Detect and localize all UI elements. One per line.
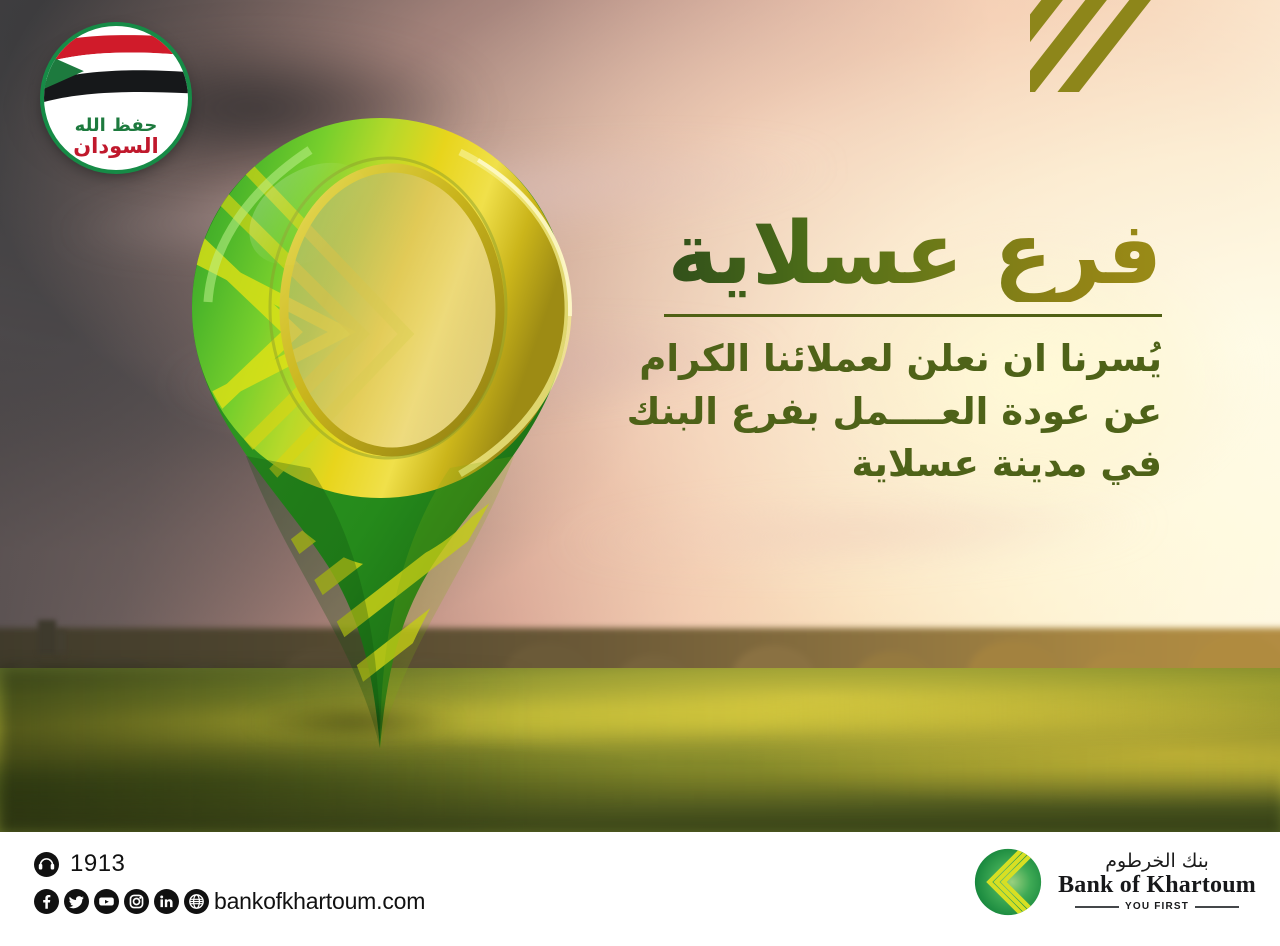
sudan-flag-icon	[44, 32, 188, 113]
footer: 1913	[0, 832, 1280, 946]
website-url[interactable]: bankofkhartoum.com	[214, 888, 425, 915]
twitter-icon[interactable]	[64, 889, 89, 914]
youtube-icon[interactable]	[94, 889, 119, 914]
hotline-number: 1913	[70, 850, 125, 878]
bank-name-english: Bank of Khartoum	[1058, 871, 1256, 900]
contact-block: 1913	[34, 850, 433, 915]
tagline-text: YOU FIRST	[1125, 901, 1189, 912]
bank-tagline: YOU FIRST	[1075, 901, 1239, 912]
tagline-rule-left	[1075, 906, 1119, 908]
globe-icon[interactable]	[184, 889, 209, 914]
social-row: bankofkhartoum.com	[34, 888, 433, 915]
title-divider	[664, 314, 1162, 317]
tagline-rule-right	[1195, 906, 1239, 908]
bank-logo-text: بنك الخرطوم Bank of Khartoum YOU FIRST	[1058, 852, 1256, 913]
linkedin-icon[interactable]	[154, 889, 179, 914]
distant-building-2	[56, 630, 66, 654]
page-title: فرع عسلاية	[622, 206, 1162, 302]
poster-root: حفظ الله السودان فرع عسلاية يُسرنا ان نع…	[0, 0, 1280, 946]
map-pin-svg	[160, 96, 600, 796]
hotline-row: 1913	[34, 850, 433, 878]
announcement-body: يُسرنا ان نعلن لعملائنا الكرام عن عودة ا…	[622, 333, 1162, 491]
bank-logo: بنك الخرطوم Bank of Khartoum YOU FIRST	[972, 846, 1256, 918]
body-line-1: يُسرنا ان نعلن لعملائنا الكرام	[622, 333, 1162, 386]
badge-text: حفظ الله السودان	[44, 116, 188, 158]
instagram-icon[interactable]	[124, 889, 149, 914]
bank-logo-mark	[972, 846, 1044, 918]
body-line-3: في مدينة عسلاية	[622, 438, 1162, 491]
sudan-flag-badge: حفظ الله السودان	[44, 26, 188, 170]
bank-name-arabic: بنك الخرطوم	[1105, 852, 1209, 871]
map-pin	[160, 96, 600, 796]
facebook-icon[interactable]	[34, 889, 59, 914]
headset-icon	[34, 852, 59, 877]
badge-line-1: حفظ الله	[44, 116, 188, 135]
distant-building	[38, 620, 56, 654]
announcement-text: فرع عسلاية يُسرنا ان نعلن لعملائنا الكرا…	[622, 206, 1162, 491]
badge-line-2: السودان	[44, 135, 188, 158]
body-line-2: عن عودة العــــمل بفرع البنك	[622, 386, 1162, 439]
pin-ground-shadow	[204, 700, 504, 744]
